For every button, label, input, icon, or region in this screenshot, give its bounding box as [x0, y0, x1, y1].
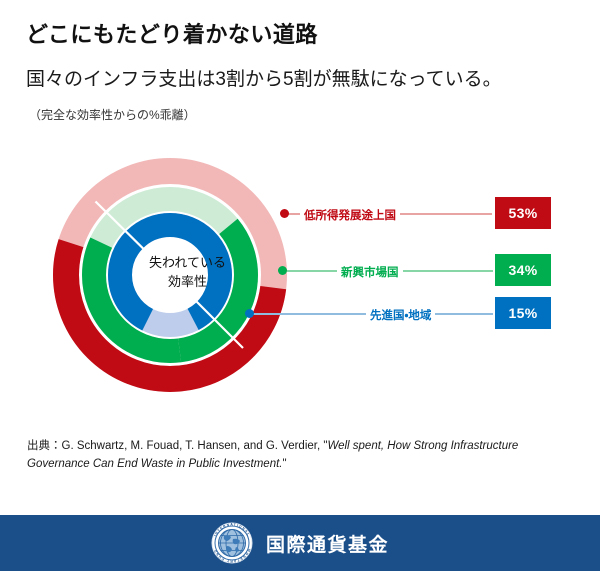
- source-authors: G. Schwartz, M. Fouad, T. Hansen, and G.…: [62, 440, 328, 452]
- source-suffix: ": [282, 458, 286, 470]
- center-label-line-2: 効率性: [120, 273, 255, 292]
- connector-dot-advanced: [245, 309, 254, 318]
- infographic-page: どこにもたどり着かない道路 国々のインフラ支出は3割から5割が無駄になっている。…: [0, 0, 600, 571]
- source-citation: 出典：G. Schwartz, M. Fouad, T. Hansen, and…: [27, 438, 557, 474]
- page-subtitle: 国々のインフラ支出は3割から5割が無駄になっている。: [26, 68, 582, 92]
- page-title: どこにもたどり着かない道路: [26, 22, 566, 48]
- value-box-advanced: 15%: [495, 297, 551, 329]
- series-label-low-income: 低所得発展途上国: [300, 206, 400, 224]
- donut-center-label: 失われている 効率性: [120, 254, 255, 292]
- value-box-emerging: 34%: [495, 254, 551, 286]
- series-label-emerging: 新興市場国: [337, 263, 403, 281]
- value-box-low-income: 53%: [495, 197, 551, 229]
- series-label-advanced: 先進国・地域: [366, 306, 435, 324]
- footer-organization-name: 国際通貨基金: [266, 530, 389, 557]
- axis-caption: （完全な効率性からの%乖離）: [29, 108, 429, 124]
- imf-seal-icon: INTERNATIONAL MONETARY FUND: [211, 522, 253, 564]
- footer-bar: INTERNATIONAL MONETARY FUND 国際通貨基金: [0, 515, 600, 571]
- donut-chart: 失われている 効率性 低所得発展途上国 53% 新興市場国 34% 先進国・地域…: [0, 150, 600, 415]
- connector-dot-low-income: [280, 209, 289, 218]
- footer-content: INTERNATIONAL MONETARY FUND 国際通貨基金: [211, 522, 389, 564]
- center-label-line-1: 失われている: [120, 254, 255, 273]
- connector-dot-emerging: [278, 266, 287, 275]
- source-prefix: 出典：: [27, 440, 62, 452]
